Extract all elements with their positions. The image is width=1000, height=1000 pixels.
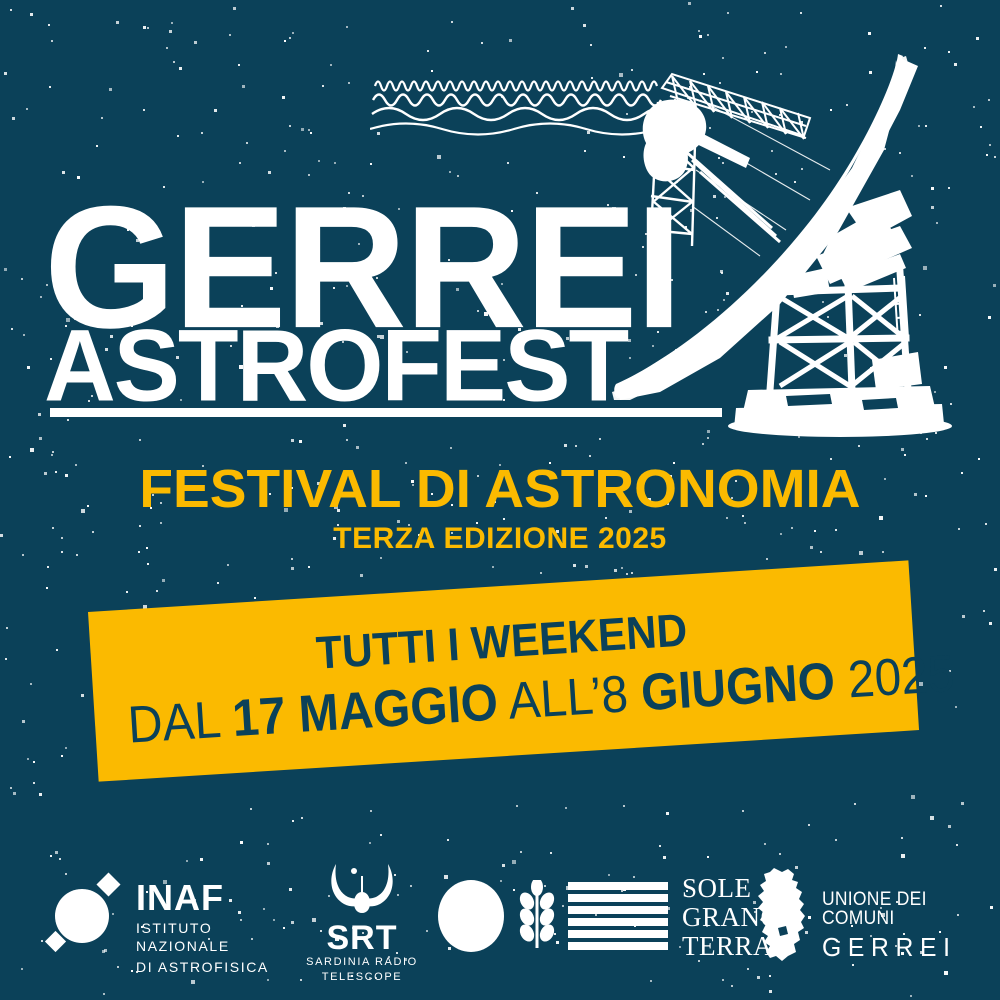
star: [565, 807, 567, 809]
star: [427, 50, 429, 52]
subtitle-main: FESTIVAL DI ASTRONOMIA: [0, 458, 1000, 520]
star: [147, 27, 149, 29]
banner-all: ALL’8: [496, 665, 630, 731]
logo-srt-sub1: SARDINIA RADIO: [302, 955, 422, 970]
star: [360, 574, 363, 577]
star: [52, 451, 54, 453]
star: [308, 566, 310, 568]
star: [962, 615, 965, 618]
star: [520, 851, 522, 853]
star: [994, 568, 997, 571]
star: [267, 843, 269, 845]
star: [930, 816, 934, 820]
star: [101, 117, 103, 119]
star: [26, 108, 28, 110]
star: [492, 566, 494, 568]
star: [50, 855, 52, 857]
star: [901, 448, 904, 451]
star: [742, 810, 744, 812]
star: [583, 24, 586, 27]
star: [356, 446, 359, 449]
star: [233, 7, 236, 10]
star: [961, 802, 964, 805]
star: [380, 557, 382, 559]
star: [250, 808, 252, 810]
star: [40, 296, 42, 298]
antenna-crescent-icon: [326, 862, 398, 914]
star: [731, 985, 733, 987]
star: [584, 150, 586, 152]
logo-srt-sub2: TELESCOPE: [302, 970, 422, 985]
title-block: GERREI ASTROFEST: [44, 196, 764, 404]
subtitle-edition: TERZA EDIZIONE 2025: [0, 522, 1000, 556]
star: [509, 39, 512, 42]
star: [904, 454, 906, 456]
star: [229, 34, 231, 36]
star: [238, 64, 240, 66]
star: [590, 44, 592, 46]
earth-layers-icon: [568, 882, 668, 950]
star: [27, 758, 29, 760]
star: [901, 854, 905, 858]
star: [289, 125, 291, 127]
star: [126, 591, 128, 593]
star: [370, 810, 372, 812]
logo-inaf-sub2: DI ASTROFISICA: [136, 959, 284, 977]
star: [191, 980, 195, 984]
star: [659, 845, 661, 847]
star: [301, 128, 304, 131]
star: [766, 558, 768, 560]
star: [573, 564, 576, 567]
star: [65, 747, 67, 749]
star: [96, 145, 98, 147]
star: [437, 155, 441, 159]
star: [166, 47, 168, 49]
star: [956, 844, 958, 846]
star: [808, 824, 810, 826]
star: [631, 572, 633, 574]
star: [550, 852, 552, 854]
star: [291, 439, 294, 442]
star: [254, 597, 256, 599]
star: [346, 439, 348, 441]
star: [948, 825, 951, 828]
star: [139, 439, 141, 441]
star: [779, 853, 781, 855]
star: [227, 564, 229, 566]
star: [49, 86, 51, 88]
star: [910, 995, 912, 997]
star: [450, 447, 452, 449]
banner-end-date: GIUGNO: [626, 652, 837, 723]
star: [334, 162, 336, 164]
star: [299, 440, 302, 443]
star: [585, 565, 588, 568]
star: [284, 150, 286, 152]
star: [330, 64, 332, 66]
star: [177, 135, 179, 137]
star: [431, 70, 433, 72]
star: [564, 444, 567, 447]
star: [540, 572, 542, 574]
star: [447, 839, 449, 841]
star: [835, 839, 837, 841]
star: [33, 782, 35, 784]
star: [267, 979, 269, 981]
sun-icon: [438, 880, 504, 952]
star: [722, 979, 724, 981]
star: [156, 590, 158, 592]
star: [30, 13, 33, 16]
star: [51, 454, 53, 456]
star: [12, 117, 15, 120]
star: [147, 563, 149, 565]
star: [13, 792, 16, 795]
star: [769, 990, 772, 993]
star: [284, 40, 286, 42]
star: [291, 567, 294, 570]
star: [702, 443, 704, 445]
logo-inaf-sub1: ISTITUTO NAZIONALE: [136, 920, 284, 955]
star: [707, 34, 709, 36]
star: [516, 805, 518, 807]
star: [61, 755, 63, 757]
star: [666, 812, 669, 815]
star: [200, 858, 203, 861]
star: [698, 30, 700, 32]
star: [214, 109, 217, 112]
date-banner: TUTTI I WEEKEND DAL 17 MAGGIO ALL’8 GIUG…: [88, 560, 919, 781]
banner-dal: DAL: [126, 690, 234, 754]
star: [59, 858, 61, 860]
star: [663, 856, 666, 859]
star: [481, 42, 483, 44]
star: [688, 2, 691, 5]
star: [940, 5, 942, 7]
logo-sole-grano-terra: SOLE GRANO TERRA: [438, 868, 728, 964]
logo-inaf: INAF ISTITUTO NAZIONALE DI ASTROFISICA: [44, 864, 284, 964]
logo-inaf-name: INAF: [136, 880, 284, 916]
star: [242, 85, 245, 88]
banner-start-date: 17 MAGGIO: [231, 674, 500, 749]
star: [346, 26, 348, 28]
star: [380, 834, 382, 836]
star: [4, 268, 7, 271]
star: [282, 96, 285, 99]
star: [589, 455, 591, 457]
star: [22, 720, 25, 723]
star: [240, 841, 243, 844]
star: [194, 41, 197, 44]
star: [451, 21, 453, 23]
star: [507, 162, 509, 164]
star: [911, 795, 915, 799]
star: [800, 12, 802, 14]
star: [10, 787, 12, 789]
sardinia-map-icon: [752, 866, 818, 962]
star: [757, 976, 760, 979]
star: [5, 658, 7, 660]
star: [27, 366, 30, 369]
star: [699, 35, 702, 38]
star: [308, 129, 310, 131]
star: [292, 820, 294, 822]
star: [30, 683, 32, 685]
star: [246, 142, 248, 144]
star: [301, 817, 303, 819]
star: [322, 85, 324, 87]
star: [4, 72, 7, 75]
star: [854, 803, 856, 805]
star: [46, 587, 48, 589]
star: [201, 132, 203, 134]
star: [955, 706, 957, 708]
date-banner-inner: TUTTI I WEEKEND DAL 17 MAGGIO ALL’8 GIUG…: [88, 560, 919, 781]
star: [623, 805, 625, 807]
star: [179, 67, 182, 70]
star: [171, 22, 173, 24]
star: [626, 573, 628, 575]
star: [292, 32, 294, 34]
star: [162, 579, 165, 582]
star: [289, 37, 291, 39]
star: [48, 24, 50, 26]
logo-srt-name: SRT: [302, 921, 422, 955]
star: [143, 26, 146, 29]
logo-inaf-text: INAF ISTITUTO NAZIONALE DI ASTROFISICA: [136, 880, 284, 977]
star: [310, 132, 312, 134]
star: [6, 627, 8, 629]
star: [103, 993, 105, 995]
logo-ucg-line1: UNIONE DEI COMUNI: [822, 890, 960, 928]
star: [983, 610, 985, 612]
star: [21, 278, 23, 280]
star: [38, 413, 41, 416]
star: [23, 334, 25, 336]
star: [571, 7, 574, 10]
logo-unione-comuni-gerrei: UNIONE DEI COMUNI GERREI: [752, 864, 972, 964]
star: [989, 622, 992, 625]
star: [707, 856, 709, 858]
star: [33, 761, 35, 763]
star: [55, 851, 58, 854]
star: [11, 328, 13, 330]
wheat-icon: [516, 880, 558, 952]
star: [901, 837, 903, 839]
star: [764, 843, 766, 845]
star: [318, 160, 320, 162]
star: [769, 975, 771, 977]
star: [10, 9, 12, 11]
star: [348, 82, 350, 84]
sponsor-logo-strip: INAF ISTITUTO NAZIONALE DI ASTROFISICA S…: [0, 862, 1000, 972]
star: [370, 163, 372, 165]
star: [650, 980, 652, 982]
star: [369, 842, 371, 844]
title-underline: [50, 408, 722, 417]
star: [239, 162, 241, 164]
star: [173, 61, 175, 63]
logo-ucg-line2: GERREI: [822, 934, 965, 960]
logo-srt: SRT SARDINIA RADIO TELESCOPE: [302, 862, 422, 968]
star: [116, 21, 119, 24]
star: [51, 40, 53, 42]
star: [858, 445, 860, 447]
star: [143, 109, 145, 111]
banner-year: 2025: [833, 645, 956, 710]
logo-ucg-text: UNIONE DEI COMUNI GERREI: [822, 890, 972, 960]
star: [291, 558, 293, 560]
star: [30, 448, 34, 452]
page-title-line2: ASTROFEST: [44, 325, 789, 408]
star: [575, 445, 577, 447]
star: [621, 567, 623, 569]
star: [56, 649, 58, 651]
star: [47, 566, 49, 568]
star: [39, 793, 42, 796]
star: [868, 32, 871, 35]
star: [217, 582, 219, 584]
circle-and-diamonds-icon: [44, 872, 134, 960]
star: [614, 569, 617, 572]
star: [109, 88, 112, 91]
star: [727, 12, 729, 14]
star: [81, 694, 84, 697]
star: [39, 437, 42, 440]
star: [343, 424, 346, 427]
star: [169, 30, 172, 33]
poster-root: GERREI ASTROFEST FESTIVAL DI ASTRONOMIA …: [0, 0, 1000, 1000]
